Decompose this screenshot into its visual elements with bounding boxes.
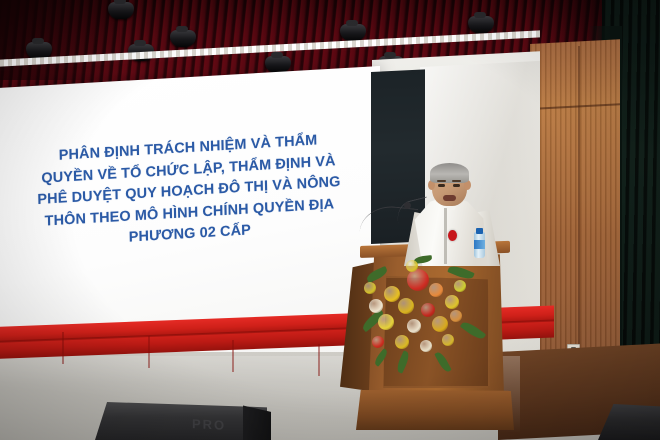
spotlight-fixture-icon <box>340 24 366 41</box>
orange-rose <box>429 283 443 297</box>
yellow-bud <box>442 334 454 346</box>
speaker-mouth <box>443 195 456 201</box>
yellow-bloom <box>432 316 448 332</box>
water-bottle-cap <box>476 228 483 234</box>
lapel-pin-icon <box>448 230 457 241</box>
water-bottle-label <box>474 240 485 249</box>
step-seam <box>62 332 64 364</box>
yellow-chrysanthemum <box>384 286 400 302</box>
foliage-leaf <box>460 319 486 342</box>
yellow-bud <box>406 260 418 272</box>
speaker-eye-left <box>438 184 445 187</box>
step-seam <box>318 344 320 376</box>
yellow-rose <box>398 298 414 314</box>
microphone-capsule-icon <box>404 202 411 209</box>
podium-base <box>356 390 514 430</box>
yellow-bloom <box>395 335 409 349</box>
orange-bud <box>450 310 462 322</box>
slide-title-block: PHÂN ĐỊNH TRÁCH NHIỆM VÀ THẨM QUYỀN VỀ T… <box>5 127 373 256</box>
foliage-leaf <box>447 263 474 281</box>
yellow-bud <box>364 282 376 294</box>
speaker-brow-right <box>452 180 461 182</box>
white-rose <box>369 299 383 313</box>
spotlight-fixture-icon <box>170 30 196 47</box>
conference-hall-photo: PHÂN ĐỊNH TRÁCH NHIỆM VÀ THẨM QUYỀN VỀ T… <box>0 0 660 440</box>
yellow-bloom <box>378 314 394 330</box>
yellow-bud <box>454 280 466 292</box>
foliage-leaf <box>365 266 389 283</box>
step-seam <box>148 336 150 368</box>
spotlight-fixture-icon <box>468 16 494 33</box>
yellow-daisy <box>445 295 459 309</box>
floral-arrangement <box>362 250 492 370</box>
speaker-brow-left <box>437 180 446 182</box>
white-pompom <box>407 319 421 333</box>
red-rose <box>407 269 429 291</box>
foliage-leaf <box>373 348 390 366</box>
speaker-eye-right <box>453 184 460 187</box>
red-bud <box>372 336 384 348</box>
speaker-hair <box>430 163 469 183</box>
ceiling-shadow-left <box>0 0 120 80</box>
white-bloom <box>420 340 432 352</box>
step-seam <box>232 340 234 372</box>
spotlight-fixture-icon <box>108 2 134 19</box>
red-carnation <box>421 303 435 317</box>
